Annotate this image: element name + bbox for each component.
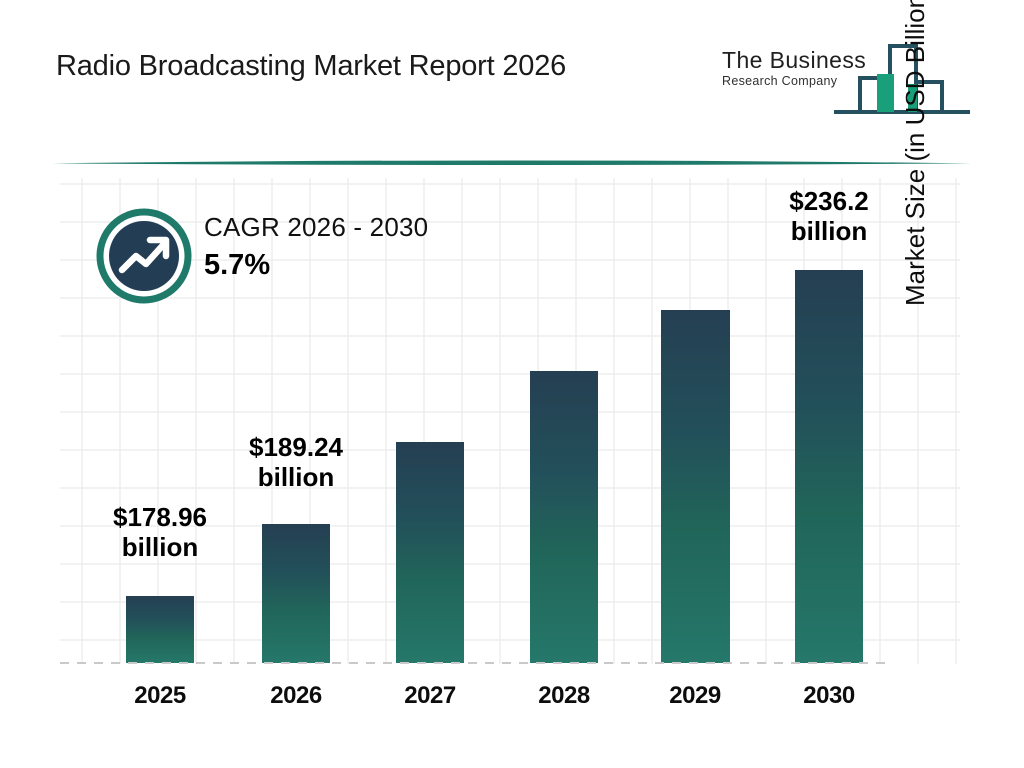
x-axis-label-2025: 2025 — [100, 682, 220, 710]
y-axis-title: Market Size (in USD Billion) — [900, 0, 936, 306]
cagr-badge: CAGR 2026 - 2030 5.7% — [96, 208, 516, 308]
x-axis-label-2026: 2026 — [236, 682, 356, 710]
bar-2028[interactable] — [530, 371, 598, 663]
chart-baseline — [60, 662, 890, 664]
bar-value-amount-2026: $189.24 — [196, 432, 396, 462]
bar-value-label-2025: $178.96 billion — [60, 502, 260, 562]
bar-value-amount-2030: $236.2 — [729, 186, 929, 216]
bar-value-label-2026: $189.24 billion — [196, 432, 396, 492]
bar-value-unit-2030: billion — [729, 216, 929, 246]
bar-2030[interactable] — [795, 270, 863, 663]
bar-2026[interactable] — [262, 524, 330, 663]
trending-up-arrow-icon — [96, 208, 192, 304]
bar-2025[interactable] — [126, 596, 194, 663]
chart-page: Radio Broadcasting Market Report 2026 Th… — [0, 0, 1024, 768]
x-axis-label-2027: 2027 — [370, 682, 490, 710]
x-axis-label-2028: 2028 — [504, 682, 624, 710]
bars-layer — [0, 0, 1024, 663]
bar-2027[interactable] — [396, 442, 464, 663]
bar-value-label-2030: $236.2 billion — [729, 186, 929, 246]
x-axis-label-2029: 2029 — [635, 682, 755, 710]
cagr-range-label: CAGR 2026 - 2030 — [204, 212, 428, 243]
bar-value-unit-2025: billion — [60, 532, 260, 562]
x-axis-label-2030: 2030 — [769, 682, 889, 710]
cagr-value-label: 5.7% — [204, 249, 428, 282]
bar-value-unit-2026: billion — [196, 462, 396, 492]
bar-value-amount-2025: $178.96 — [60, 502, 260, 532]
bar-2029[interactable] — [661, 310, 730, 663]
cagr-text-block: CAGR 2026 - 2030 5.7% — [204, 212, 428, 282]
